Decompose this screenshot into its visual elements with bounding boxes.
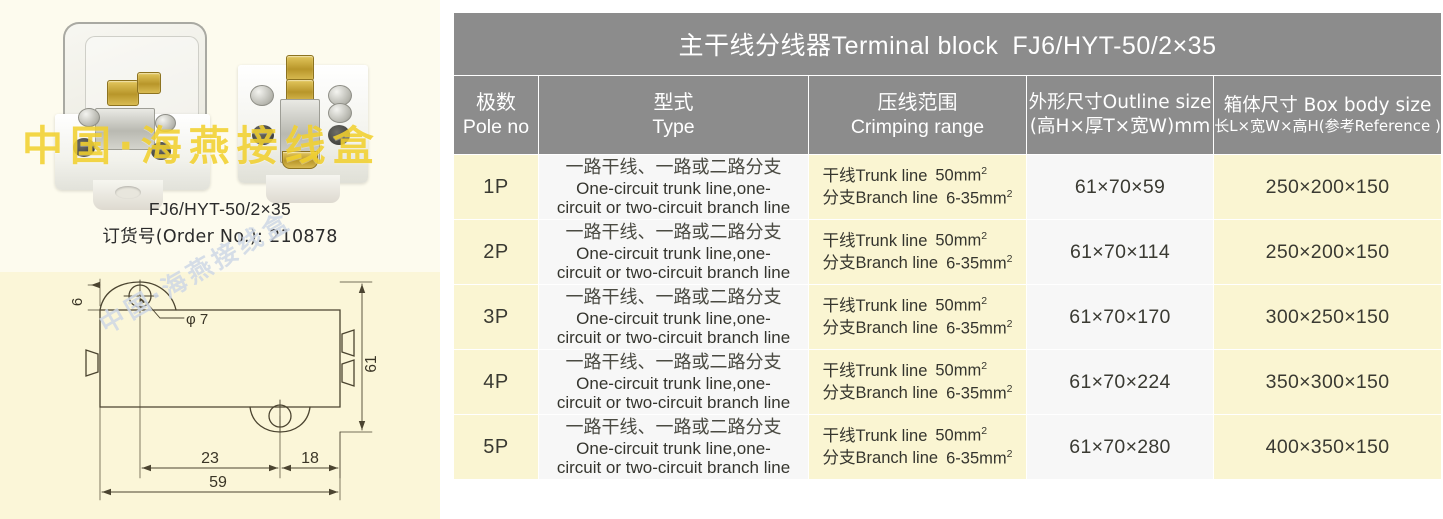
crimp-trunk-value: 50mm [935,232,981,250]
steel-screw [78,108,100,127]
spec-table-container: 主干线分线器Terminal blockFJ6/HYT-50/2×35 极数 P… [440,0,1443,519]
crimp-trunk-label-en: Trunk line [856,231,928,252]
header-crimping-range-en: Crimping range [809,115,1026,140]
product-model-label: FJ6/HYT-50/2×35 [0,196,440,223]
crimp-branch-sup: 2 [1007,383,1013,395]
crimp-trunk-sup: 2 [981,165,987,177]
crimp-branch-line: 分支Branch line6-35mm2 [823,187,1013,209]
dim-label-6: 6 [69,298,86,306]
crimp-trunk-sup: 2 [981,360,987,372]
crimp-trunk-label-en: Trunk line [856,426,928,447]
product-photo: 中国·海燕接线盒 [0,0,440,195]
wire-entry-hole [252,125,274,145]
cell-type: 一路干线、一路或二路分支 One-circuit trunk line,one-… [539,220,808,284]
header-type-en: Type [539,115,808,140]
table-row: 1P 一路干线、一路或二路分支 One-circuit trunk line,o… [454,155,1441,219]
drawing-svg: 6 φ 7 61 23 18 59 [0,272,440,519]
metal-busbar [95,108,155,150]
crimp-trunk-label-cn: 干线 [823,296,856,315]
cell-outline-size: 61×70×280 [1027,415,1213,479]
cell-outline-size: 61×70×170 [1027,285,1213,349]
cell-type: 一路干线、一路或二路分支 One-circuit trunk line,one-… [539,155,808,219]
cell-box-body-size: 250×200×150 [1214,155,1441,219]
crimp-trunk-label-cn: 干线 [823,166,856,185]
header-crimping-range-cn: 压线范围 [809,90,1026,116]
crimp-trunk-label-cn: 干线 [823,231,856,250]
crimp-branch-label-en: Branch line [856,253,939,274]
dim-label-61: 61 [363,355,380,372]
cell-type: 一路干线、一路或二路分支 One-circuit trunk line,one-… [539,350,808,414]
crimp-branch-value: 6-35mm [946,189,1007,207]
cell-box-body-size: 300×250×150 [1214,285,1441,349]
crimp-branch-value: 6-35mm [946,449,1007,467]
table-title-model: FJ6/HYT-50/2×35 [1012,32,1216,60]
spec-table: 主干线分线器Terminal blockFJ6/HYT-50/2×35 极数 P… [453,12,1442,480]
spec-table-body: 1P 一路干线、一路或二路分支 One-circuit trunk line,o… [454,155,1441,479]
cell-pole-no: 3P [454,285,538,349]
crimp-trunk-value: 50mm [935,297,981,315]
product-unit-covered [55,22,210,190]
cell-type-en-line1: One-circuit trunk line,one- [539,439,808,458]
table-row: 5P 一路干线、一路或二路分支 One-circuit trunk line,o… [454,415,1441,479]
crimp-branch-label-cn: 分支 [823,448,856,467]
cell-outline-size: 61×70×224 [1027,350,1213,414]
crimp-branch-label-en: Branch line [856,188,939,209]
crimp-trunk-sup: 2 [981,295,987,307]
table-title-row: 主干线分线器Terminal blockFJ6/HYT-50/2×35 [454,13,1441,75]
header-box-body-size: 箱体尺寸 Box body size 长L×宽W×高H(参考Reference … [1214,76,1441,154]
crimp-branch-sup: 2 [1007,188,1013,200]
crimp-branch-label-cn: 分支 [823,253,856,272]
table-title: 主干线分线器Terminal blockFJ6/HYT-50/2×35 [454,13,1441,75]
crimp-branch-sup: 2 [1007,318,1013,330]
crimp-trunk-label-en: Trunk line [856,361,928,382]
cell-type-cn: 一路干线、一路或二路分支 [539,157,808,180]
dim-label-59: 59 [209,474,227,491]
steel-screw [328,103,352,123]
header-crimping-range: 压线范围 Crimping range [809,76,1026,154]
cell-type-en-line2: circuit or two-circuit branch line [539,198,808,217]
brass-terminal-screw [286,55,314,81]
crimp-branch-value: 6-35mm [946,254,1007,272]
wire-entry-hole [328,125,350,145]
cell-type-cn: 一路干线、一路或二路分支 [539,222,808,245]
cell-type-en-line1: One-circuit trunk line,one- [539,244,808,263]
crimp-trunk-line: 干线Trunk line50mm2 [823,425,1013,447]
cell-type-en-line1: One-circuit trunk line,one- [539,179,808,198]
crimp-trunk-value: 50mm [935,362,981,380]
cell-type-cn: 一路干线、一路或二路分支 [539,287,808,310]
header-outline-size-line2: (高H×厚T×宽W)mm [1027,115,1213,139]
brass-terminal-screw [107,80,139,106]
table-title-en: Terminal block [832,32,999,60]
header-outline-size-line1: 外形尺寸Outline size [1027,91,1213,115]
crimp-trunk-sup: 2 [981,425,987,437]
crimp-branch-label-cn: 分支 [823,383,856,402]
cell-type-en-line2: circuit or two-circuit branch line [539,328,808,347]
cell-crimping-range: 干线Trunk line50mm2 分支Branch line6-35mm2 [809,155,1026,219]
crimp-branch-line: 分支Branch line6-35mm2 [823,252,1013,274]
crimp-trunk-label-en: Trunk line [856,166,928,187]
cell-crimping-range: 干线Trunk line50mm2 分支Branch line6-35mm2 [809,285,1026,349]
crimp-trunk-value: 50mm [935,167,981,185]
table-row: 4P 一路干线、一路或二路分支 One-circuit trunk line,o… [454,350,1441,414]
wire-entry-hole [151,142,171,160]
crimp-trunk-line: 干线Trunk line50mm2 [823,360,1013,382]
steel-screw [155,114,176,132]
cell-outline-size: 61×70×114 [1027,220,1213,284]
cell-crimping-range: 干线Trunk line50mm2 分支Branch line6-35mm2 [809,220,1026,284]
cell-type-en-line2: circuit or two-circuit branch line [539,393,808,412]
header-outline-size: 外形尺寸Outline size (高H×厚T×宽W)mm [1027,76,1213,154]
header-box-body-size-line1: 箱体尺寸 Box body size [1214,94,1441,118]
cell-type-en-line1: One-circuit trunk line,one- [539,374,808,393]
crimp-branch-line: 分支Branch line6-35mm2 [823,382,1013,404]
dim-label-18: 18 [301,450,319,467]
crimp-branch-sup: 2 [1007,448,1013,460]
cell-pole-no: 1P [454,155,538,219]
crimp-branch-line: 分支Branch line6-35mm2 [823,317,1013,339]
cell-crimping-range: 干线Trunk line50mm2 分支Branch line6-35mm2 [809,350,1026,414]
dim-label-23: 23 [201,450,219,467]
cell-pole-no: 5P [454,415,538,479]
header-pole-no-cn: 极数 [454,90,538,116]
table-row: 2P 一路干线、一路或二路分支 One-circuit trunk line,o… [454,220,1441,284]
cell-crimping-range: 干线Trunk line50mm2 分支Branch line6-35mm2 [809,415,1026,479]
crimp-branch-value: 6-35mm [946,384,1007,402]
crimp-branch-label-en: Branch line [856,318,939,339]
crimp-trunk-sup: 2 [981,230,987,242]
cell-box-body-size: 400×350×150 [1214,415,1441,479]
header-type-cn: 型式 [539,90,808,116]
cell-type-en-line1: One-circuit trunk line,one- [539,309,808,328]
left-product-panel: 中国·海燕接线盒 FJ6/HYT-50/2×35 订货号(Order No.):… [0,0,440,519]
crimp-branch-label-cn: 分支 [823,188,856,207]
cell-box-body-size: 250×200×150 [1214,220,1441,284]
table-row: 3P 一路干线、一路或二路分支 One-circuit trunk line,o… [454,285,1441,349]
product-unit-open [238,55,368,195]
wire-entry-hole [73,138,95,157]
brass-terminal-screw [282,151,318,169]
crimp-trunk-line: 干线Trunk line50mm2 [823,230,1013,252]
crimp-branch-label-en: Branch line [856,448,939,469]
crimp-trunk-label-cn: 干线 [823,426,856,445]
cell-type-en-line2: circuit or two-circuit branch line [539,458,808,477]
crimp-trunk-value: 50mm [935,427,981,445]
crimp-trunk-line: 干线Trunk line50mm2 [823,165,1013,187]
cell-type: 一路干线、一路或二路分支 One-circuit trunk line,one-… [539,415,808,479]
cell-outline-size: 61×70×59 [1027,155,1213,219]
dim-label-phi7: φ 7 [186,311,208,328]
crimp-trunk-label-cn: 干线 [823,361,856,380]
cell-type-en-line2: circuit or two-circuit branch line [539,263,808,282]
brass-terminal-screw [137,72,161,94]
crimp-branch-value: 6-35mm [946,319,1007,337]
header-box-body-size-line2: 长L×宽W×高H(参考Reference ) [1214,117,1441,136]
cell-pole-no: 2P [454,220,538,284]
steel-screw [250,85,274,106]
product-spec-page: 中国·海燕接线盒 FJ6/HYT-50/2×35 订货号(Order No.):… [0,0,1443,519]
cell-type-cn: 一路干线、一路或二路分支 [539,417,808,440]
table-title-cn: 主干线分线器 [679,31,832,60]
crimp-trunk-label-en: Trunk line [856,296,928,317]
crimp-branch-line: 分支Branch line6-35mm2 [823,447,1013,469]
crimp-branch-sup: 2 [1007,253,1013,265]
table-header-row: 极数 Pole no 型式 Type 压线范围 Crimping range 外… [454,76,1441,154]
header-pole-no: 极数 Pole no [454,76,538,154]
cell-pole-no: 4P [454,350,538,414]
header-pole-no-en: Pole no [454,115,538,140]
cell-type: 一路干线、一路或二路分支 One-circuit trunk line,one-… [539,285,808,349]
crimp-branch-label-en: Branch line [856,383,939,404]
product-order-number: 订货号(Order No.): 210878 [0,223,440,251]
crimp-branch-label-cn: 分支 [823,318,856,337]
technical-drawing: 6 φ 7 61 23 18 59 [0,272,440,519]
cell-box-body-size: 350×300×150 [1214,350,1441,414]
cell-type-cn: 一路干线、一路或二路分支 [539,352,808,375]
header-type: 型式 Type [539,76,808,154]
product-caption: FJ6/HYT-50/2×35 订货号(Order No.): 210878 [0,196,440,251]
crimp-trunk-line: 干线Trunk line50mm2 [823,295,1013,317]
